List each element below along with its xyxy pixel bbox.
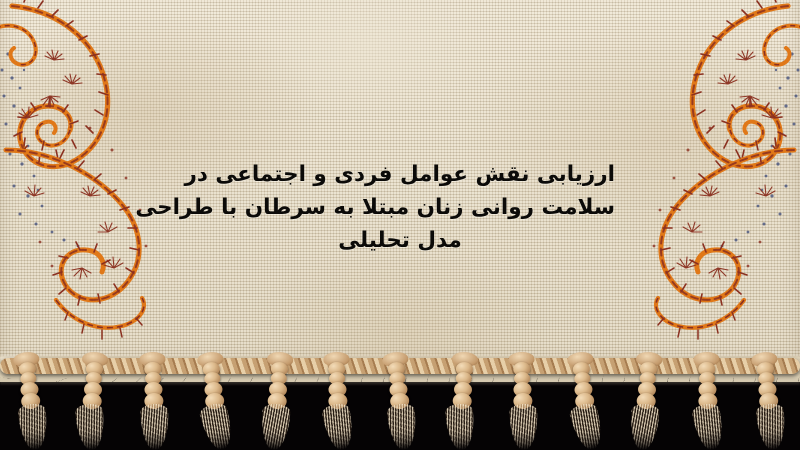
title-line-2: سلامت روانی زنان مبتلا به سرطان با طراحی: [185, 191, 615, 224]
tassel: [684, 359, 731, 448]
tassel: [252, 359, 302, 450]
tassel-skirt: [17, 403, 50, 450]
tassel-skirt: [444, 403, 476, 450]
tassel: [437, 359, 487, 450]
tassel-skirt: [198, 401, 237, 450]
tassel: [500, 359, 547, 448]
tassel-skirt: [629, 403, 660, 450]
tassel: [374, 358, 427, 450]
title-line-1: ارزیابی نقش عوامل فردی و اجتماعی در: [185, 158, 615, 191]
tassel-skirt: [321, 402, 357, 450]
tassel-skirt: [260, 403, 291, 450]
knotted-tassel-fringe: [0, 360, 800, 450]
tassel: [189, 358, 242, 450]
tassel-skirt: [509, 404, 539, 450]
slide-canvas: ارزیابی نقش عوامل فردی و اجتماعی در سلام…: [0, 0, 800, 450]
title-line-3: مدل تحلیلی: [185, 224, 615, 257]
tassel-skirt: [690, 402, 726, 450]
tassel-skirt: [386, 403, 419, 450]
tassel-skirt: [75, 403, 107, 450]
tassel: [621, 359, 671, 450]
tassel-skirt: [140, 404, 170, 450]
tassel: [558, 358, 611, 450]
tassel: [67, 359, 117, 450]
tassel-skirt: [568, 401, 607, 450]
tassel-skirt: [755, 403, 788, 450]
tassel: [4, 358, 57, 450]
tassel: [743, 358, 796, 450]
slide-title: ارزیابی نقش عوامل فردی و اجتماعی در سلام…: [185, 158, 615, 257]
tassel: [315, 359, 362, 448]
tassel: [130, 359, 177, 448]
